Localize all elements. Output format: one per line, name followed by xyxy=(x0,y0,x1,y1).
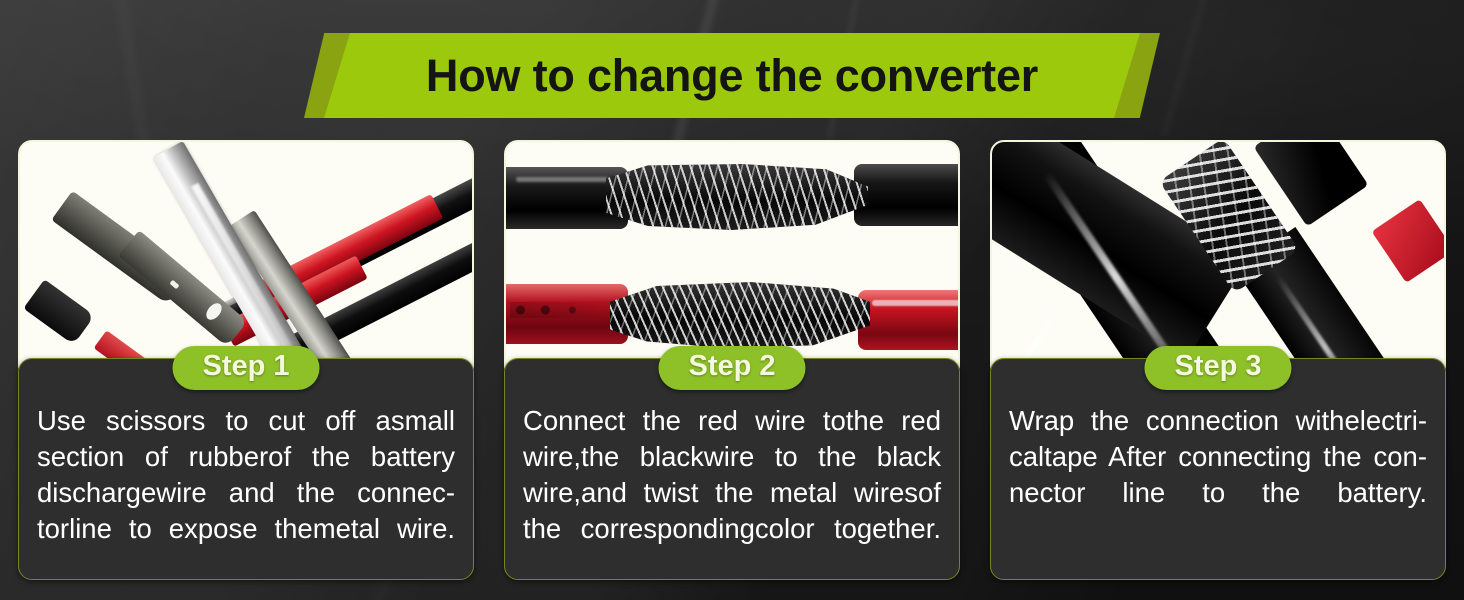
scissor-handle-grip xyxy=(23,279,94,345)
red-wire-highlight xyxy=(872,300,960,306)
black-wire-highlight xyxy=(516,177,608,182)
title-banner: How to change the converter xyxy=(304,33,1160,118)
step-text-panel-1: Use scissors to cut off asmall section o… xyxy=(18,358,474,580)
twisted-joint-black xyxy=(606,164,868,230)
step-text-panel-2: Connect the red wire tothe red wire,the … xyxy=(504,358,960,580)
background-streak xyxy=(105,0,156,161)
step-badge-2: Step 2 xyxy=(658,346,805,390)
steps-row: Step 1 Use scissors to cut off asmall se… xyxy=(18,140,1446,580)
scissors-cutting-wire-photo xyxy=(18,140,474,376)
black-wire-right xyxy=(854,164,960,226)
background-streak xyxy=(1157,0,1217,139)
red-wire-tip xyxy=(1372,199,1446,283)
red-wire-marking xyxy=(510,302,614,318)
taped-connection-photo xyxy=(990,140,1446,376)
step-card-1: Step 1 Use scissors to cut off asmall se… xyxy=(18,140,474,580)
red-wire-right xyxy=(858,290,960,350)
step-description-1: Use scissors to cut off asmall section o… xyxy=(37,403,455,583)
step-text-panel-3: Wrap the connection withelectri-caltape … xyxy=(990,358,1446,580)
step-badge-1: Step 1 xyxy=(172,346,319,390)
step-badge-3: Step 3 xyxy=(1144,346,1291,390)
page-title: How to change the converter xyxy=(304,33,1160,118)
step-card-2: Step 2 Connect the red wire tothe red wi… xyxy=(504,140,960,580)
twisted-wire-connection-photo xyxy=(504,140,960,376)
twisted-joint-red xyxy=(610,282,870,348)
step-description-3: Wrap the connection withelectri-caltape … xyxy=(1009,403,1427,547)
step-card-3: Step 3 Wrap the connection withelectri-c… xyxy=(990,140,1446,580)
step-description-2: Connect the red wire tothe red wire,the … xyxy=(523,403,941,583)
